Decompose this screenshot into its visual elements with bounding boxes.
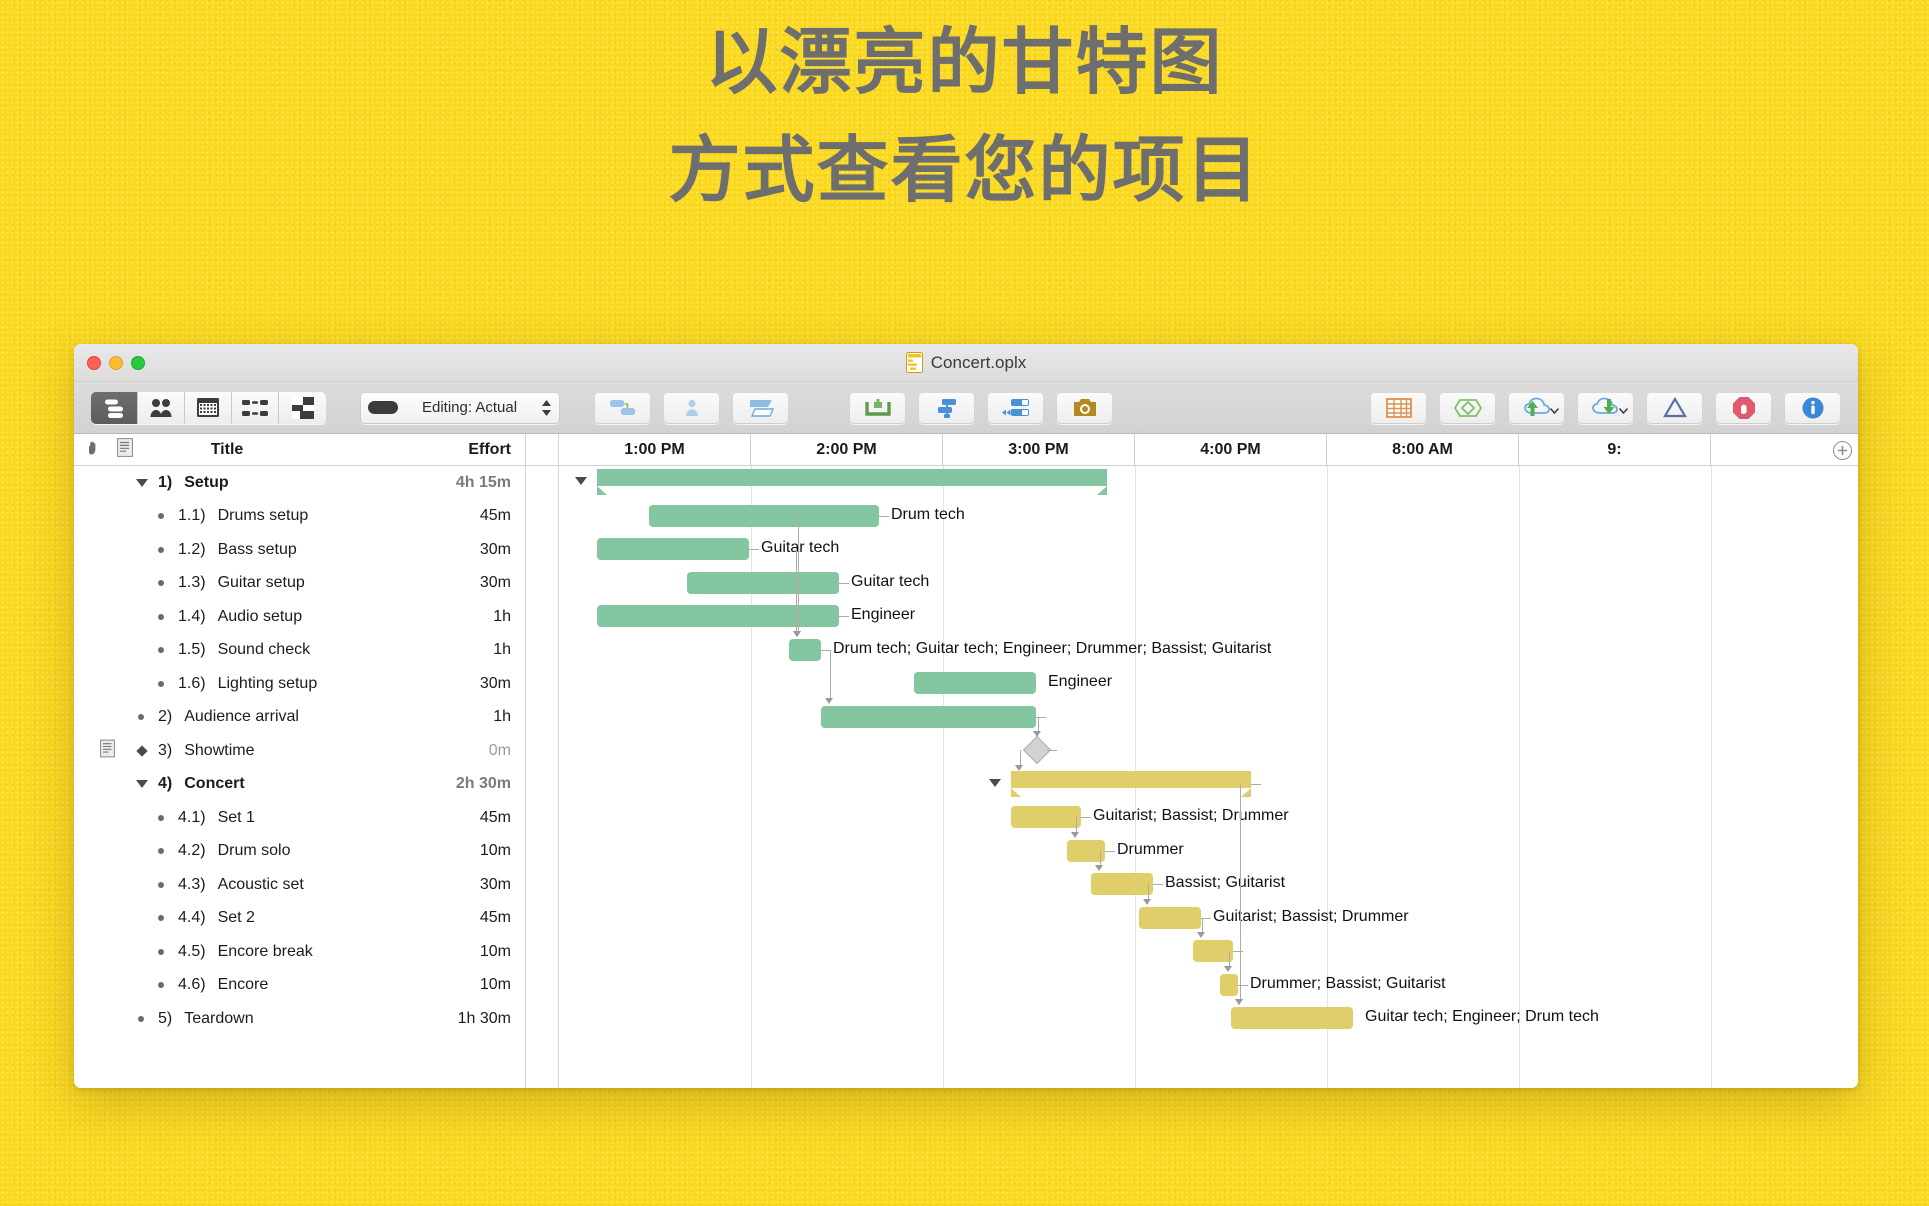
window-title-text: Concert.oplx <box>931 353 1026 373</box>
row-number: 4.5) <box>74 943 206 961</box>
gantt-task-bar[interactable] <box>789 639 821 661</box>
row-title: Setup <box>184 474 228 492</box>
row-bullet <box>158 915 164 921</box>
gantt-dependency-link <box>1233 951 1243 952</box>
timescale-label: 2:00 PM <box>751 434 943 466</box>
gantt-dependency-link <box>1201 918 1211 919</box>
gantt-bar-label: Drummer <box>1117 841 1184 859</box>
gantt-task-bar[interactable] <box>649 505 879 527</box>
gantt-dependency-link <box>1228 951 1230 967</box>
editing-mode-popup[interactable]: Editing: Actual <box>360 392 560 424</box>
gantt-dependency-link <box>839 583 849 584</box>
timescale-label: 4:00 PM <box>1135 434 1327 466</box>
row-number: 4.6) <box>74 976 206 994</box>
gantt-dependency-link <box>1037 717 1039 733</box>
gantt-dependency-link <box>1239 784 1241 1001</box>
split-task-button[interactable] <box>732 392 789 424</box>
document-icon <box>906 352 923 373</box>
window-title: Concert.oplx <box>74 352 1858 373</box>
row-effort: 10m <box>480 943 511 961</box>
gantt-dependency-link <box>1105 851 1115 852</box>
row-effort: 1h <box>493 641 511 659</box>
gantt-bar-label: Drum tech <box>891 506 965 524</box>
inspector-button[interactable] <box>1784 392 1841 424</box>
row-bullet <box>158 848 164 854</box>
row-number: 4) <box>74 775 172 793</box>
row-effort: 45m <box>480 909 511 927</box>
row-title: Set 2 <box>218 909 255 927</box>
row-bullet <box>158 513 164 519</box>
column-header-title[interactable]: Title <box>74 441 380 459</box>
gantt-dependency-link <box>1019 750 1021 766</box>
upload-to-cloud-button[interactable] <box>1508 392 1565 424</box>
gantt-task-bar[interactable] <box>1231 1007 1353 1029</box>
gantt-bar-label: Guitarist; Bassist; Drummer <box>1093 807 1289 825</box>
gantt-gridline <box>1327 466 1328 1088</box>
dashboard-view-button[interactable] <box>279 392 326 424</box>
gantt-dependency-arrow <box>1033 731 1041 737</box>
row-title: Lighting setup <box>218 675 318 693</box>
gantt-task-bar[interactable] <box>597 605 839 627</box>
gantt-task-bar[interactable] <box>1139 907 1201 929</box>
fast-track-button[interactable] <box>987 392 1044 424</box>
gantt-bar-label: Drum tech; Guitar tech; Engineer; Drumme… <box>833 640 1271 658</box>
gantt-task-bar[interactable] <box>1091 873 1153 895</box>
app-window: Concert.oplx <box>74 344 1858 1088</box>
gantt-task-bar[interactable] <box>1220 974 1238 996</box>
gantt-disclosure-triangle[interactable] <box>989 779 1001 787</box>
gantt-dependency-link <box>1201 918 1203 934</box>
gantt-task-bar[interactable] <box>821 706 1036 728</box>
outline-row[interactable]: 1.2)Bass setup30m <box>74 533 525 567</box>
gantt-task-bar[interactable] <box>597 538 749 560</box>
gantt-chart-body: Drum techGuitar techGuitar techEngineerD… <box>559 466 1858 1088</box>
outline-row[interactable]: 3)Showtime0m <box>74 734 525 768</box>
gantt-bar-label: Drummer; Bassist; Guitarist <box>1250 975 1446 993</box>
outline-row[interactable]: 4.1)Set 145m <box>74 801 525 835</box>
gantt-dependency-link <box>1153 884 1163 885</box>
resources-view-button[interactable] <box>138 392 185 424</box>
gantt-dependency-arrow <box>1235 999 1243 1005</box>
toolbar: Editing: Actual <box>74 382 1858 434</box>
indent-task-button[interactable] <box>594 392 651 424</box>
row-effort: 1h <box>493 708 511 726</box>
row-number: 5) <box>74 1010 172 1028</box>
gantt-dependency-link <box>1075 817 1077 833</box>
gantt-dependency-arrow <box>825 698 833 704</box>
row-number: 1) <box>74 474 172 492</box>
row-effort: 4h 15m <box>456 474 511 492</box>
row-note-icon[interactable] <box>100 739 115 762</box>
outline-row[interactable]: 1.6)Lighting setup30m <box>74 667 525 701</box>
gantt-dependency-link <box>1036 717 1046 718</box>
group-tasks-button[interactable] <box>918 392 975 424</box>
outline-row-list: 1)Setup4h 15m1.1)Drums setup45m1.2)Bass … <box>74 466 525 1036</box>
snapshot-button[interactable] <box>1056 392 1113 424</box>
row-number: 1.1) <box>74 507 206 525</box>
chevron-down-icon[interactable] <box>1550 401 1559 419</box>
gantt-dependency-link <box>1081 817 1091 818</box>
row-bullet <box>138 714 144 720</box>
gantt-bar-label: Guitar tech; Engineer; Drum tech <box>1365 1008 1599 1026</box>
outline-view-button[interactable] <box>91 392 138 424</box>
row-title: Showtime <box>184 742 254 760</box>
assign-resource-button[interactable] <box>663 392 720 424</box>
editing-mode-label: Editing: Actual <box>407 399 532 416</box>
stop-button[interactable] <box>1715 392 1772 424</box>
gantt-dependency-link <box>797 616 799 632</box>
row-bullet <box>158 647 164 653</box>
disclosure-triangle[interactable] <box>136 780 148 788</box>
row-bullet <box>158 614 164 620</box>
outline-row[interactable]: 1.5)Sound check1h <box>74 634 525 668</box>
gantt-bar-label: Engineer <box>1048 673 1112 691</box>
gantt-task-bar[interactable] <box>1193 940 1233 962</box>
view-mode-group <box>91 392 326 424</box>
gantt-gridline <box>943 466 944 1088</box>
row-number: 4.2) <box>74 842 206 860</box>
gantt-summary-bar[interactable] <box>597 469 1107 495</box>
row-effort: 30m <box>480 675 511 693</box>
row-title: Set 1 <box>218 809 255 827</box>
outline-extra-column <box>526 434 559 1088</box>
outline-pane: Title Effort 1)Setup4h 15m1.1)Drums setu… <box>74 434 526 1088</box>
outline-header: Title Effort <box>74 434 525 466</box>
outline-row[interactable]: 1.1)Drums setup45m <box>74 500 525 534</box>
timescale-label: 8:00 AM <box>1327 434 1519 466</box>
row-effort: 1h <box>493 608 511 626</box>
gantt-dependency-link <box>1099 851 1101 867</box>
level-resources-button[interactable] <box>849 392 906 424</box>
outline-row[interactable]: 5)Teardown1h 30m <box>74 1002 525 1036</box>
row-bullet <box>158 681 164 687</box>
row-bullet <box>158 815 164 821</box>
row-bullet <box>158 547 164 553</box>
gantt-dependency-arrow <box>1143 899 1151 905</box>
gantt-bar-label: Engineer <box>851 606 915 624</box>
gantt-dependency-link <box>1047 750 1057 751</box>
gantt-gridline <box>1711 466 1712 1088</box>
gantt-task-bar[interactable] <box>1011 806 1081 828</box>
gantt-dependency-arrow <box>1095 865 1103 871</box>
window-title-bar: Concert.oplx <box>74 344 1858 382</box>
row-title: Encore break <box>218 943 313 961</box>
row-effort: 0m <box>489 742 511 760</box>
zoom-in-icon[interactable] <box>1833 441 1852 460</box>
column-header-effort[interactable]: Effort <box>468 441 511 459</box>
row-effort: 30m <box>480 574 511 592</box>
row-effort: 10m <box>480 842 511 860</box>
gantt-dependency-link <box>1147 884 1149 900</box>
row-effort: 1h 30m <box>458 1010 511 1028</box>
outline-row[interactable]: 1.3)Guitar setup30m <box>74 567 525 601</box>
row-effort: 45m <box>480 507 511 525</box>
row-title: Drum solo <box>218 842 291 860</box>
outline-row[interactable]: 4.4)Set 245m <box>74 902 525 936</box>
gantt-dependency-arrow <box>1071 832 1079 838</box>
row-effort: 45m <box>480 809 511 827</box>
gantt-dependency-link <box>749 549 759 550</box>
main-content: Title Effort 1)Setup4h 15m1.1)Drums setu… <box>74 434 1858 1088</box>
row-title: Audience arrival <box>184 708 299 726</box>
outline-extra-column-header <box>526 434 558 466</box>
row-effort: 30m <box>480 541 511 559</box>
gantt-bar-label: Guitarist; Bassist; Drummer <box>1213 908 1409 926</box>
gantt-dependency-link <box>839 616 849 617</box>
row-title: Drums setup <box>218 507 309 525</box>
gantt-dependency-arrow <box>1224 966 1232 972</box>
row-number: 4.3) <box>74 876 206 894</box>
gantt-dependency-link <box>829 650 831 699</box>
violations-button[interactable] <box>1646 392 1703 424</box>
row-number: 1.4) <box>74 608 206 626</box>
outline-row[interactable]: 4.6)Encore10m <box>74 969 525 1003</box>
row-number: 1.5) <box>74 641 206 659</box>
row-number: 4.4) <box>74 909 206 927</box>
gantt-bar-label: Bassist; Guitarist <box>1165 874 1285 892</box>
headline-line-1: 以漂亮的甘特图 <box>0 8 1929 116</box>
row-title: Audio setup <box>218 608 303 626</box>
headline-line-2: 方式查看您的项目 <box>0 116 1929 224</box>
gantt-dependency-arrow <box>1015 765 1023 771</box>
gantt-dependency-link <box>821 650 831 651</box>
row-effort: 30m <box>480 876 511 894</box>
row-bullet <box>158 949 164 955</box>
stepper-icon[interactable] <box>541 399 552 417</box>
row-title: Teardown <box>184 1010 253 1028</box>
download-from-cloud-button[interactable] <box>1577 392 1634 424</box>
outline-row[interactable]: 1)Setup4h 15m <box>74 466 525 500</box>
gantt-disclosure-triangle[interactable] <box>575 477 587 485</box>
row-bullet <box>158 982 164 988</box>
row-bullet <box>138 1016 144 1022</box>
row-title: Bass setup <box>218 541 297 559</box>
spreadsheet-export-button[interactable] <box>1370 392 1427 424</box>
row-effort: 2h 30m <box>456 775 511 793</box>
gantt-dependency-arrow <box>793 631 801 637</box>
row-title: Concert <box>184 775 244 793</box>
gantt-timescale-header: 1:00 PM2:00 PM3:00 PM4:00 PM8:00 AM9: <box>559 434 1858 466</box>
gantt-dependency-link <box>879 516 889 517</box>
gantt-bar-label: Guitar tech <box>851 573 929 591</box>
row-number: 2) <box>74 708 172 726</box>
timescale-label: 9: <box>1519 434 1711 466</box>
gantt-dependency-arrow <box>1197 932 1205 938</box>
page-headline: 以漂亮的甘特图 方式查看您的项目 <box>0 8 1929 224</box>
row-effort: 10m <box>480 976 511 994</box>
row-number: 1.2) <box>74 541 206 559</box>
row-bullet <box>158 882 164 888</box>
calendar-view-button[interactable] <box>185 392 232 424</box>
row-number: 4.1) <box>74 809 206 827</box>
row-number: 1.6) <box>74 675 206 693</box>
disclosure-triangle[interactable] <box>136 479 148 487</box>
gantt-gridline <box>1519 466 1520 1088</box>
network-view-button[interactable] <box>232 392 279 424</box>
gantt-dependency-link <box>1251 784 1261 785</box>
outline-row[interactable]: 4.2)Drum solo10m <box>74 835 525 869</box>
row-number: 1.3) <box>74 574 206 592</box>
timescale-label: 3:00 PM <box>943 434 1135 466</box>
editing-swatch <box>368 401 398 414</box>
outline-row[interactable]: 1.4)Audio setup1h <box>74 600 525 634</box>
gantt-gridline <box>751 466 752 1088</box>
row-bullet <box>158 580 164 586</box>
gantt-task-bar[interactable] <box>914 672 1036 694</box>
gantt-pane: 1:00 PM2:00 PM3:00 PM4:00 PM8:00 AM9: Dr… <box>559 434 1858 1088</box>
outline-row[interactable]: 4.3)Acoustic set30m <box>74 868 525 902</box>
row-title: Guitar setup <box>218 574 305 592</box>
outline-row[interactable]: 4)Concert2h 30m <box>74 768 525 802</box>
timescale-label: 1:00 PM <box>559 434 751 466</box>
row-number: 3) <box>74 742 172 760</box>
gantt-summary-bar[interactable] <box>1011 771 1251 797</box>
outline-row[interactable]: 2)Audience arrival1h <box>74 701 525 735</box>
row-title: Encore <box>218 976 269 994</box>
gantt-dependency-link <box>759 549 797 632</box>
omnioutliner-button[interactable] <box>1439 392 1496 424</box>
chevron-down-icon[interactable] <box>1619 401 1628 419</box>
row-title: Acoustic set <box>218 876 304 894</box>
outline-row[interactable]: 4.5)Encore break10m <box>74 935 525 969</box>
row-title: Sound check <box>218 641 311 659</box>
